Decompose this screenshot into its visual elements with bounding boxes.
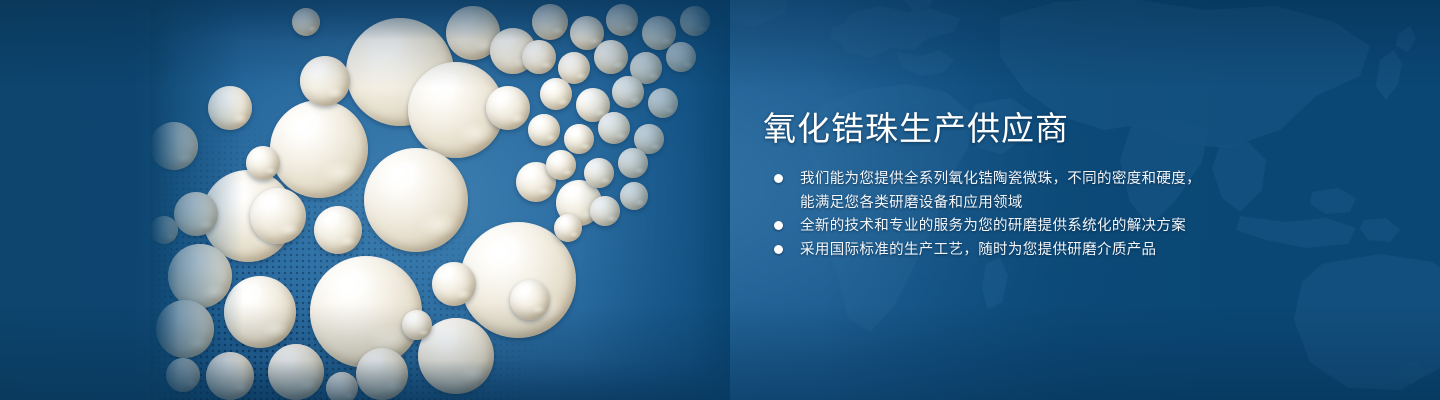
- banner-copy: 氧化锆珠生产供应商 我们能为您提供全系列氧化锆陶瓷微珠，不同的密度和硬度， 能满…: [763, 0, 1323, 400]
- bullet-text-line: 全新的技术和专业的服务为您的研磨提供系统化的解决方案: [800, 215, 1310, 239]
- banner-bullet-list: 我们能为您提供全系列氧化锆陶瓷微珠，不同的密度和硬度， 能满足您各类研磨设备和应…: [770, 168, 1310, 262]
- bullet-text-line: 能满足您各类研磨设备和应用领域: [800, 192, 1310, 216]
- bullet-text-line: 我们能为您提供全系列氧化锆陶瓷微珠，不同的密度和硬度，: [800, 168, 1310, 192]
- bullet-dot-icon: [774, 174, 783, 183]
- list-item: 我们能为您提供全系列氧化锆陶瓷微珠，不同的密度和硬度， 能满足您各类研磨设备和应…: [770, 168, 1310, 215]
- bullet-dot-icon: [774, 221, 783, 230]
- list-item: 采用国际标准的生产工艺，随时为您提供研磨介质产品: [770, 239, 1310, 263]
- banner-headline: 氧化锆珠生产供应商: [763, 109, 1069, 149]
- hero-banner: 氧化锆珠生产供应商 我们能为您提供全系列氧化锆陶瓷微珠，不同的密度和硬度， 能满…: [0, 0, 1440, 400]
- bullet-text-line: 采用国际标准的生产工艺，随时为您提供研磨介质产品: [800, 239, 1310, 263]
- bullet-dot-icon: [774, 245, 783, 254]
- list-item: 全新的技术和专业的服务为您的研磨提供系统化的解决方案: [770, 215, 1310, 239]
